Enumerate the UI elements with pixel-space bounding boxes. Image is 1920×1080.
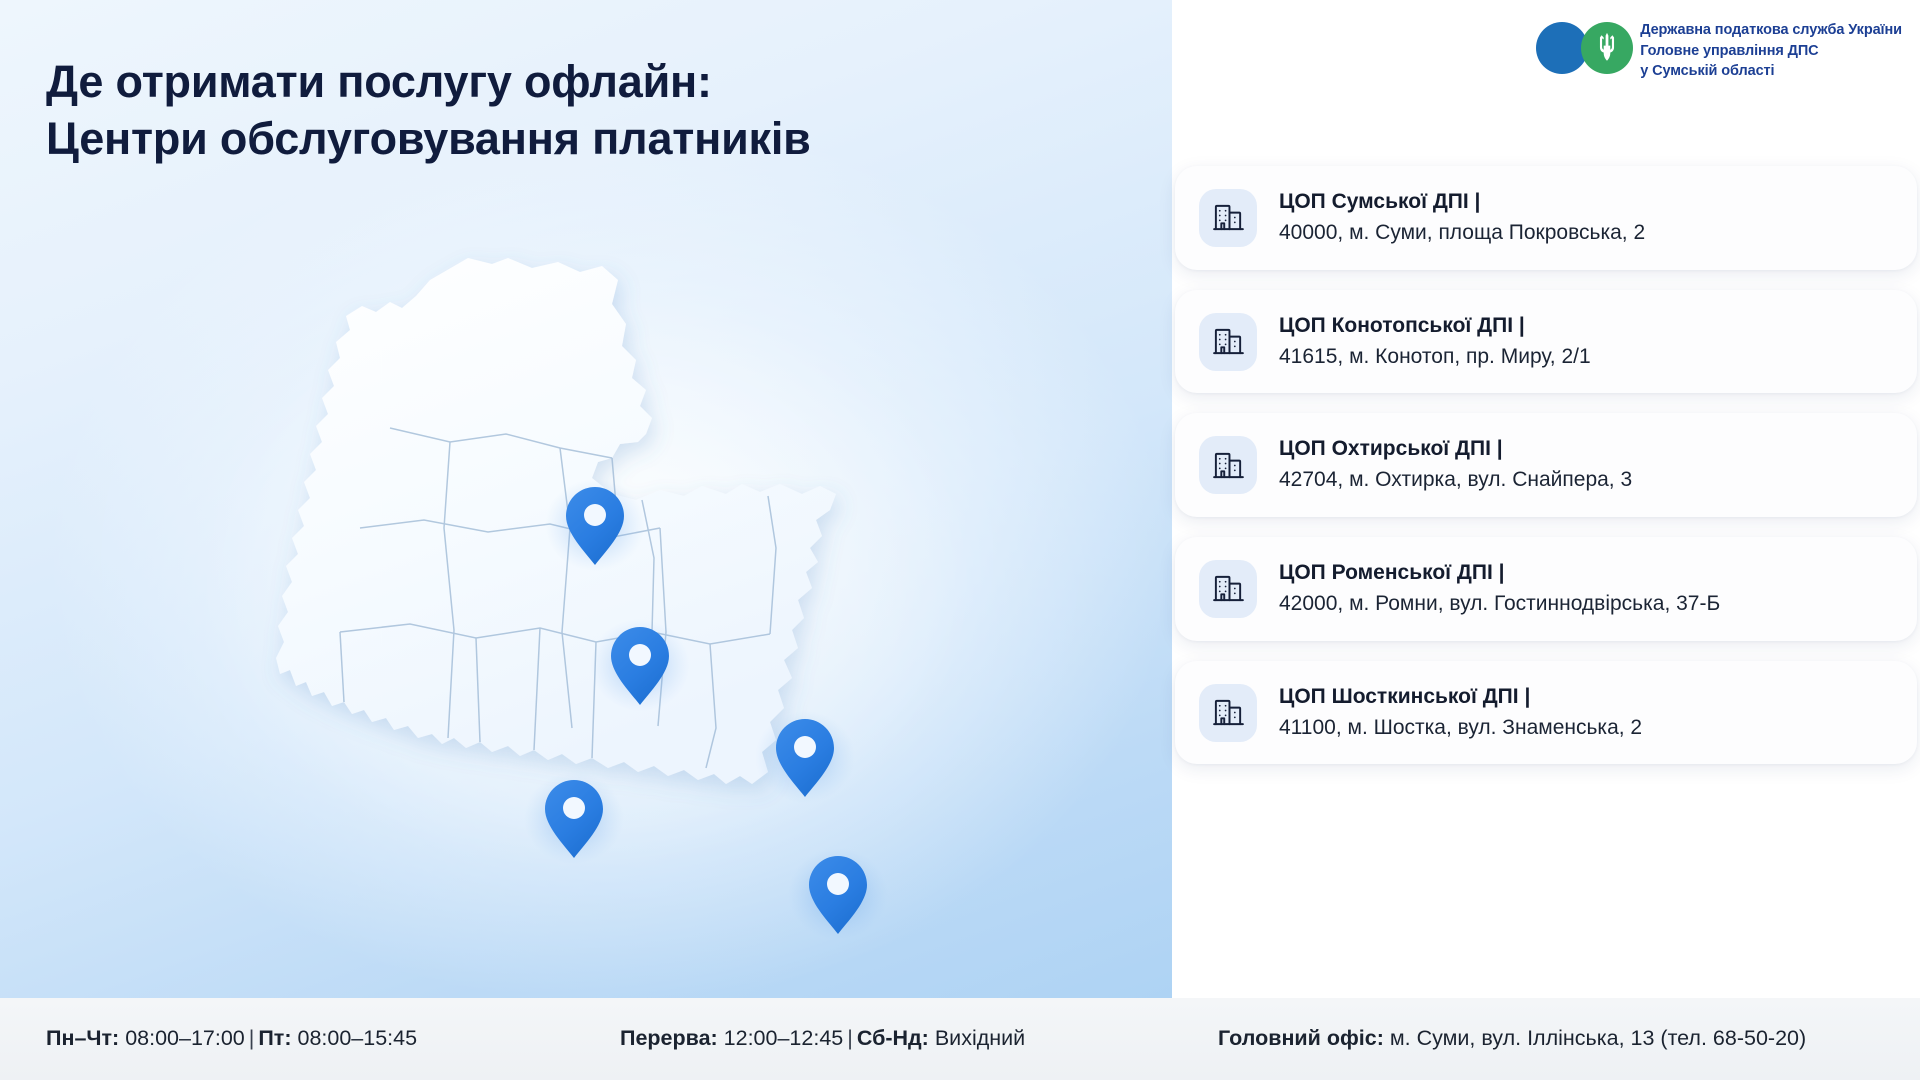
office-building-icon — [1199, 684, 1257, 742]
list-item[interactable]: ЦОП Шосткинської ДПІ | 41100, м. Шостка,… — [1175, 661, 1917, 765]
list-item-title: ЦОП Роменської ДПІ | — [1279, 559, 1720, 587]
weekday-label: Пн–Чт: — [46, 1026, 119, 1050]
list-item-address: 42704, м. Охтирка, вул. Снайпера, 3 — [1279, 466, 1632, 495]
page-title-line1: Де отримати послугу офлайн: — [46, 56, 712, 107]
footer-separator-1: | — [245, 1026, 259, 1050]
footer-break-and-weekend: Перерва: 12:00–12:45|Сб-Нд: Вихідний — [620, 1026, 1025, 1052]
list-item-address: 41100, м. Шостка, вул. Знаменська, 2 — [1279, 714, 1642, 743]
footer-working-hours: Пн–Чт: 08:00–17:00|Пт: 08:00–15:45 — [46, 1026, 417, 1052]
list-item-title: ЦОП Охтирської ДПІ | — [1279, 435, 1632, 463]
list-item-body: ЦОП Конотопської ДПІ | 41615, м. Конотоп… — [1279, 312, 1591, 372]
weekend-value: Вихідний — [935, 1026, 1025, 1050]
weekday-hours: 08:00–17:00 — [125, 1026, 245, 1050]
logo-line-1: Державна податкова служба України — [1640, 20, 1902, 41]
list-item-address: 42000, м. Ромни, вул. Гостиннодвірська, … — [1279, 590, 1720, 619]
left-panel: Де отримати послугу офлайн: Центри обслу… — [0, 0, 1172, 998]
list-item[interactable]: ЦОП Конотопської ДПІ | 41615, м. Конотоп… — [1175, 290, 1917, 394]
friday-hours: 08:00–15:45 — [297, 1026, 417, 1050]
list-item-address: 41615, м. Конотоп, пр. Миру, 2/1 — [1279, 343, 1591, 372]
footer-separator-2: | — [843, 1026, 857, 1050]
logo-marks — [1536, 14, 1640, 78]
list-item-address: 40000, м. Суми, площа Покровська, 2 — [1279, 219, 1645, 248]
main-office-label: Головний офіс: — [1218, 1026, 1384, 1050]
list-item-title: ЦОП Сумської ДПІ | — [1279, 188, 1645, 216]
footer-main-office: Головний офіс: м. Суми, вул. Іллінська, … — [1218, 1026, 1806, 1052]
infographic-root: Де отримати послугу офлайн: Центри обслу… — [0, 0, 1920, 1080]
office-building-icon — [1199, 189, 1257, 247]
friday-label: Пт: — [258, 1026, 291, 1050]
page-title: Де отримати послугу офлайн: Центри обслу… — [46, 54, 1106, 167]
list-item[interactable]: ЦОП Роменської ДПІ | 42000, м. Ромни, ву… — [1175, 537, 1917, 641]
ukraine-trident-icon — [1581, 22, 1633, 74]
list-item-body: ЦОП Шосткинської ДПІ | 41100, м. Шостка,… — [1279, 683, 1642, 743]
office-building-icon — [1199, 436, 1257, 494]
logo-line-3: у Сумській області — [1640, 61, 1902, 82]
sumy-oblast-map — [240, 228, 940, 928]
office-building-icon — [1199, 560, 1257, 618]
logo-text-block: Державна податкова служба України Головн… — [1640, 14, 1902, 82]
page-title-line2: Центри обслуговування платників — [46, 111, 1106, 168]
main-office-value: м. Суми, вул. Іллінська, 13 (тел. 68-50-… — [1390, 1026, 1806, 1050]
list-item[interactable]: ЦОП Сумської ДПІ | 40000, м. Суми, площа… — [1175, 166, 1917, 270]
list-item-body: ЦОП Охтирської ДПІ | 42704, м. Охтирка, … — [1279, 435, 1632, 495]
footer-bar: Пн–Чт: 08:00–17:00|Пт: 08:00–15:45 Перер… — [0, 998, 1920, 1080]
list-item-body: ЦОП Сумської ДПІ | 40000, м. Суми, площа… — [1279, 188, 1645, 248]
list-item-title: ЦОП Шосткинської ДПІ | — [1279, 683, 1642, 711]
dps-logo: Державна податкова служба України Головн… — [1536, 14, 1902, 82]
weekend-label: Сб-Нд: — [857, 1026, 929, 1050]
break-hours: 12:00–12:45 — [724, 1026, 844, 1050]
office-building-icon — [1199, 313, 1257, 371]
list-item-body: ЦОП Роменської ДПІ | 42000, м. Ромни, ву… — [1279, 559, 1720, 619]
logo-line-2: Головне управління ДПС — [1640, 41, 1902, 62]
break-label: Перерва: — [620, 1026, 718, 1050]
right-panel: Державна податкова служба України Головн… — [1172, 0, 1920, 998]
service-center-list: ЦОП Сумської ДПІ | 40000, м. Суми, площа… — [1175, 166, 1917, 784]
list-item[interactable]: ЦОП Охтирської ДПІ | 42704, м. Охтирка, … — [1175, 413, 1917, 517]
list-item-title: ЦОП Конотопської ДПІ | — [1279, 312, 1591, 340]
